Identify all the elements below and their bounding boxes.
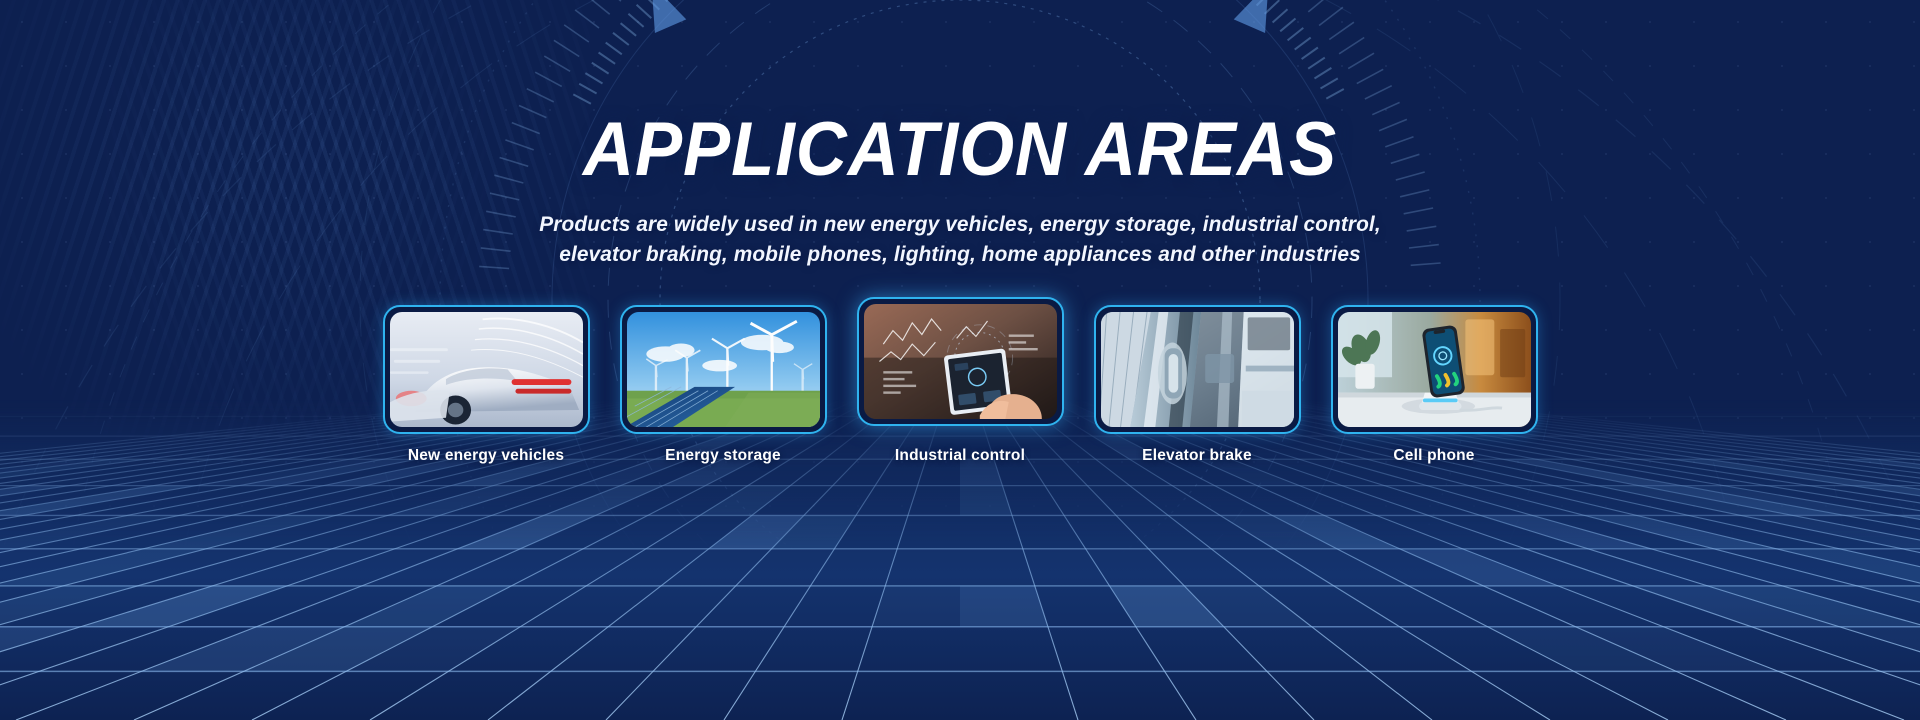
solar-wind-farm-image [627, 312, 820, 427]
application-areas-banner: APPLICATION AREAS Products are widely us… [0, 0, 1920, 720]
page-subtitle: Products are widely used in new energy v… [29, 210, 1891, 269]
application-card[interactable]: Energy storage [620, 305, 827, 465]
application-card-row: New energy vehicles [0, 305, 1920, 465]
card-frame[interactable] [1094, 305, 1301, 434]
wireless-charger-phone-image [1338, 312, 1531, 427]
elevator-shaft-image [1101, 312, 1294, 427]
application-card[interactable]: Elevator brake [1094, 305, 1301, 465]
card-label: New energy vehicles [383, 447, 590, 465]
card-label: Cell phone [1331, 447, 1538, 465]
industrial-tablet-image [864, 304, 1057, 419]
banner-header: APPLICATION AREAS Products are widely us… [0, 0, 1920, 269]
sports-car-image [390, 312, 583, 427]
card-frame[interactable] [857, 297, 1064, 426]
card-frame[interactable] [383, 305, 590, 434]
subtitle-line-1: Products are widely used in new energy v… [29, 210, 1891, 240]
application-card[interactable]: Cell phone [1331, 305, 1538, 465]
card-label: Industrial control [857, 447, 1064, 465]
card-label: Elevator brake [1094, 447, 1301, 465]
application-card[interactable]: New energy vehicles [383, 305, 590, 465]
card-label: Energy storage [620, 447, 827, 465]
page-title: APPLICATION AREAS [67, 112, 1853, 188]
application-card[interactable]: Industrial control [857, 297, 1064, 465]
card-frame[interactable] [620, 305, 827, 434]
subtitle-line-2: elevator braking, mobile phones, lightin… [29, 240, 1891, 270]
card-frame[interactable] [1331, 305, 1538, 434]
